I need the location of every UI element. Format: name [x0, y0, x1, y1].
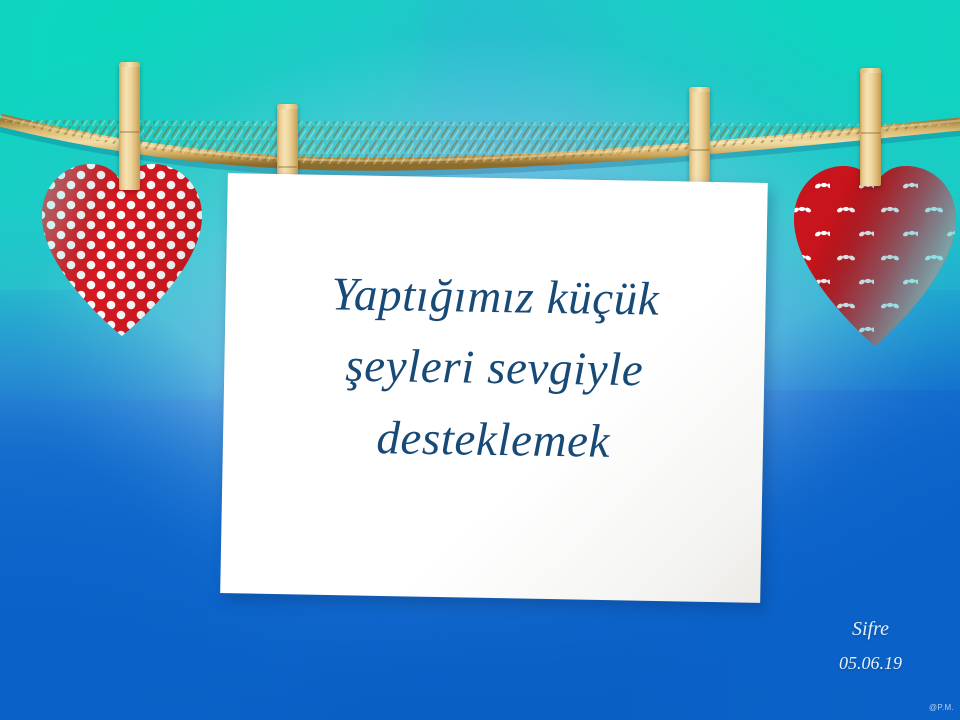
clothespin-cap [277, 104, 298, 109]
clothespin-cap [860, 68, 881, 73]
quote-text: Yaptığımız küçük şeyleri sevgiyle destek… [223, 258, 766, 481]
author-name: Sifre [839, 613, 902, 645]
clothespin [860, 68, 881, 186]
paper-note: Yaptığımız küçük şeyleri sevgiyle destek… [220, 173, 768, 603]
quote-line-3: desteklemek [253, 401, 734, 480]
watermark-label: @P.M. [929, 703, 954, 712]
quote-line-2: şeyleri sevgiyle [254, 330, 735, 409]
quote-line-1: Yaptığımız küçük [255, 258, 736, 337]
date-label: 05.06.19 [839, 649, 902, 678]
signature-block: Sifre 05.06.19 [839, 613, 902, 678]
slide-canvas: Yaptığımız küçük şeyleri sevgiyle destek… [0, 0, 960, 720]
clothespin-cap [119, 62, 140, 67]
clothespin [119, 62, 140, 190]
clothespin-cap [689, 87, 710, 92]
